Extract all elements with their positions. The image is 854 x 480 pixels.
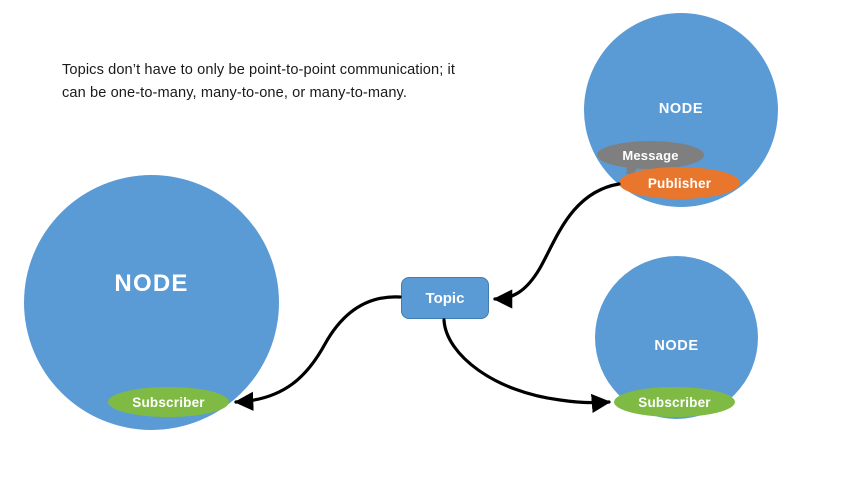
- message-label: Message: [622, 148, 678, 163]
- subscriber-left-label: Subscriber: [132, 395, 205, 410]
- arrow-publisher-to-topic: [495, 184, 619, 299]
- subscriber-left: Subscriber: [108, 387, 229, 417]
- node-top-right-label: NODE: [584, 101, 778, 117]
- node-left-label: NODE: [24, 270, 279, 298]
- slide-canvas: Topics don’t have to only be point-to-po…: [0, 0, 854, 480]
- publisher-label: Publisher: [648, 176, 711, 191]
- topic-box: Topic: [401, 277, 489, 319]
- message-callout: Message: [597, 141, 704, 169]
- message-callout-bubble: Message: [597, 141, 704, 169]
- subscriber-bottom-right: Subscriber: [614, 387, 735, 417]
- arrow-topic-to-bottom-right-subscriber: [444, 320, 609, 403]
- publisher: Publisher: [619, 167, 740, 199]
- subscriber-bottom-right-label: Subscriber: [638, 395, 711, 410]
- caption-text: Topics don’t have to only be point-to-po…: [62, 59, 482, 104]
- topic-label: Topic: [426, 290, 465, 307]
- node-bottom-right-label: NODE: [595, 338, 758, 354]
